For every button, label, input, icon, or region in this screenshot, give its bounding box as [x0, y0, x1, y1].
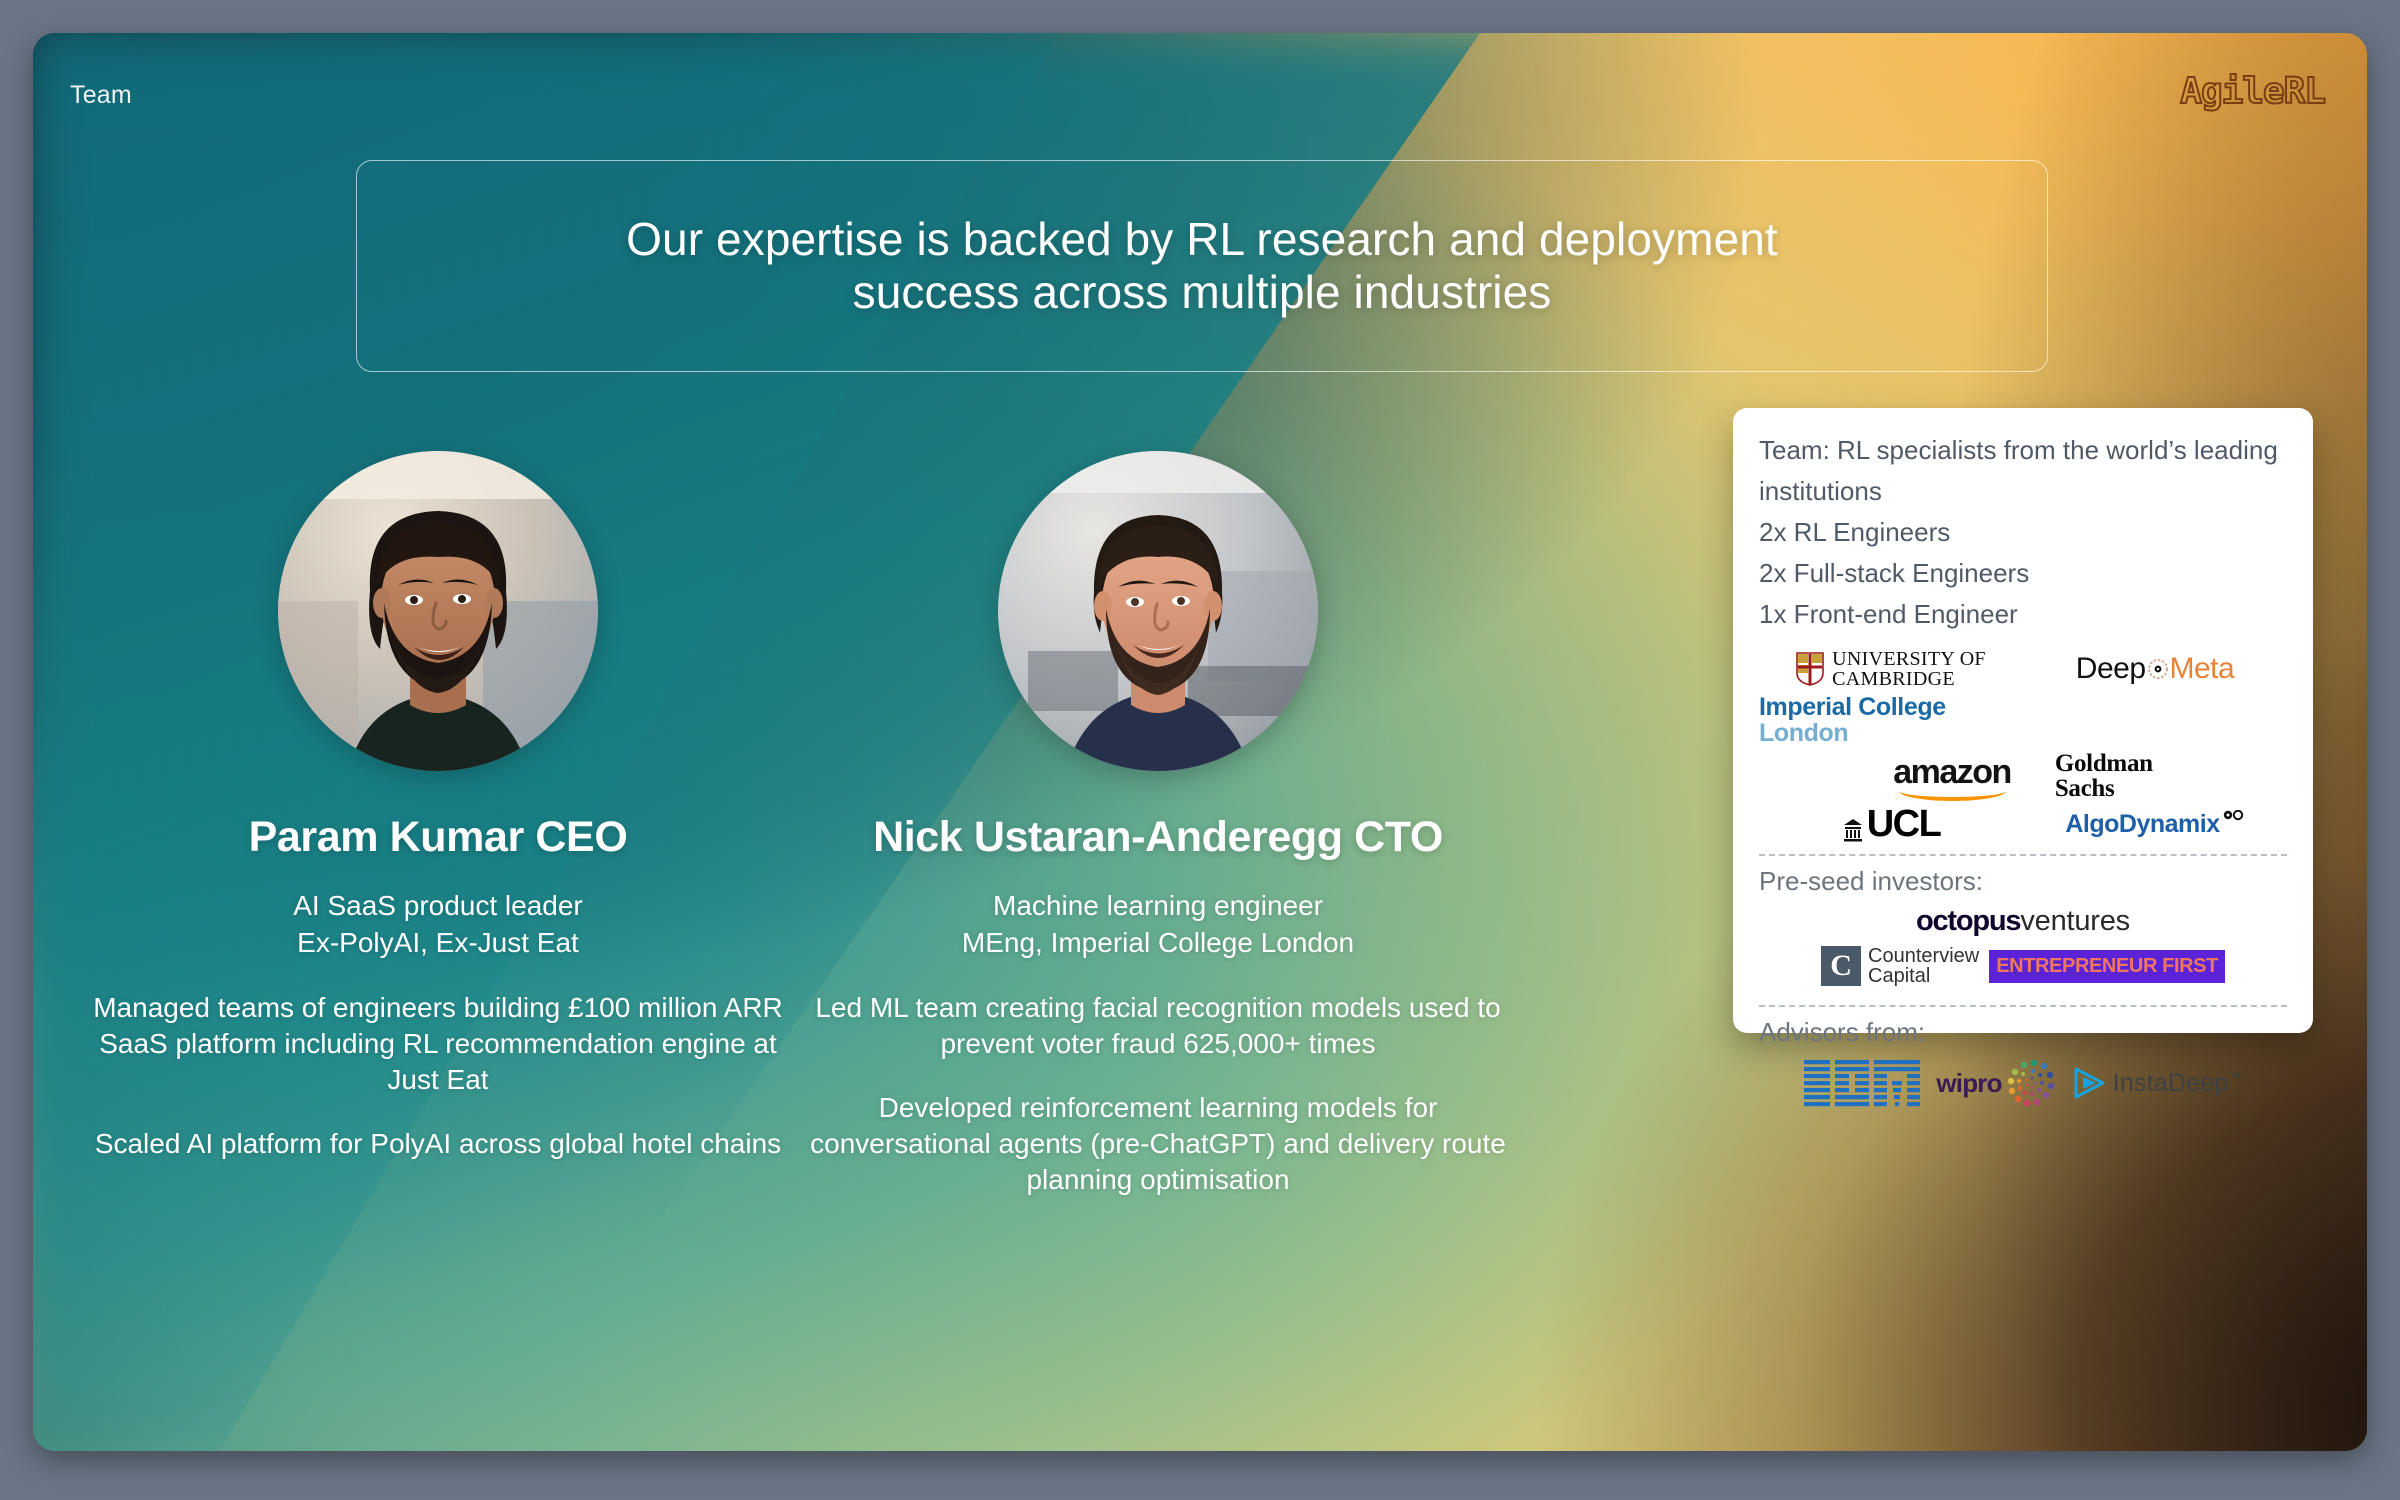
team-member-name: Param Kumar CEO [93, 813, 783, 862]
counterview-mark-icon: C [1821, 946, 1861, 986]
institution-logo-grid: UNIVERSITY OF CAMBRIDGE Deep Meta Imperi… [1759, 649, 2287, 841]
goldman-sachs-logo: Goldman Sachs [2055, 752, 2153, 801]
slide-canvas: Team AgileRL Our expertise is backed by … [33, 33, 2367, 1451]
investor-logo-row: C Counterview Capital ENTREPRENEUR FIRST [1759, 946, 2287, 988]
team-member-name: Nick Ustaran-Anderegg CTO [793, 813, 1523, 862]
avatar [278, 451, 598, 771]
subtitle-line: Machine learning engineer [793, 888, 1523, 925]
wipro-logo: wipro [1936, 1056, 2057, 1110]
ucl-wordmark: UCL [1867, 807, 1941, 841]
cambridge-logo: UNIVERSITY OF CAMBRIDGE [1796, 649, 1986, 689]
team-summary-line: Team: RL specialists from the world’s le… [1759, 430, 2287, 512]
algodynamix-wordmark: AlgoDynamix [2065, 810, 2219, 839]
cambridge-wordmark: UNIVERSITY OF CAMBRIDGE [1832, 649, 1986, 689]
advisors-title: Advisors from: [1759, 1017, 2287, 1048]
subtitle-line: Ex-PolyAI, Ex-Just Eat [93, 925, 783, 962]
advisor-logo-row: wipro [1759, 1056, 2287, 1110]
imperial-college-logo: Imperial College London [1759, 695, 1946, 746]
team-member-card: Param Kumar CEO AI SaaS product leader E… [93, 451, 783, 1162]
team-member-subtitle: AI SaaS product leader Ex-PolyAI, Ex-Jus… [93, 888, 783, 962]
ucl-portico-icon [1842, 818, 1864, 842]
octopus-ventures-logo: octopusventures [1916, 905, 2130, 938]
team-member-paragraph: Developed reinforcement learning models … [793, 1090, 1523, 1198]
wipro-spiral-icon [2004, 1056, 2058, 1110]
deepmind-meta-logo: Deep Meta [2076, 652, 2234, 686]
team-member-paragraph: Managed teams of engineers building £100… [93, 990, 783, 1098]
instadeep-logo: InstaDeep™ [2072, 1066, 2242, 1100]
avatar [998, 451, 1318, 771]
instadeep-play-icon [2072, 1066, 2106, 1100]
algodynamix-gears-icon [2221, 810, 2245, 826]
ucl-logo: UCL [1842, 807, 1941, 841]
team-member-subtitle: Machine learning engineer MEng, Imperial… [793, 888, 1523, 962]
entrepreneur-first-logo: ENTREPRENEUR FIRST [1989, 950, 2225, 983]
ibm-logo [1804, 1058, 1922, 1108]
meta-wordmark: Meta [2170, 652, 2235, 686]
meta-infinity-icon [2147, 658, 2169, 680]
investors-title: Pre-seed investors: [1759, 866, 2287, 897]
wipro-wordmark: wipro [1936, 1068, 2001, 1099]
team-member-card: Nick Ustaran-Anderegg CTO Machine learni… [793, 451, 1523, 1198]
slide-eyebrow-label: Team [70, 81, 132, 110]
instadeep-wordmark: InstaDeep™ [2113, 1069, 2242, 1098]
team-summary-line: 2x RL Engineers [1759, 512, 2287, 553]
section-divider [1759, 854, 2287, 856]
deepmind-wordmark: Deep [2076, 652, 2146, 686]
investor-logo-row: octopusventures [1759, 905, 2287, 938]
subtitle-line: AI SaaS product leader [93, 888, 783, 925]
team-member-paragraph: Led ML team creating facial recognition … [793, 990, 1523, 1062]
subtitle-line: MEng, Imperial College London [793, 925, 1523, 962]
agilerl-logo: AgileRL [2180, 71, 2325, 112]
team-member-paragraph: Scaled AI platform for PolyAI across glo… [93, 1126, 783, 1162]
team-summary-line: 1x Front-end Engineer [1759, 594, 2287, 635]
team-summary-list: Team: RL specialists from the world’s le… [1759, 430, 2287, 635]
ibm-wordmark-icon [1804, 1058, 1922, 1108]
amazon-smile-icon [1899, 789, 2006, 801]
algodynamix-logo: AlgoDynamix [2065, 810, 2244, 839]
headline-banner: Our expertise is backed by RL research a… [356, 160, 2048, 372]
amazon-logo: amazon [1893, 753, 2011, 801]
section-divider [1759, 1005, 2287, 1007]
cambridge-crest-icon [1796, 652, 1824, 686]
team-info-card: Team: RL specialists from the world’s le… [1733, 408, 2313, 1033]
headline-text: Our expertise is backed by RL research a… [567, 213, 1837, 320]
counterview-capital-logo: C Counterview Capital [1821, 946, 1979, 988]
team-summary-line: 2x Full-stack Engineers [1759, 553, 2287, 594]
